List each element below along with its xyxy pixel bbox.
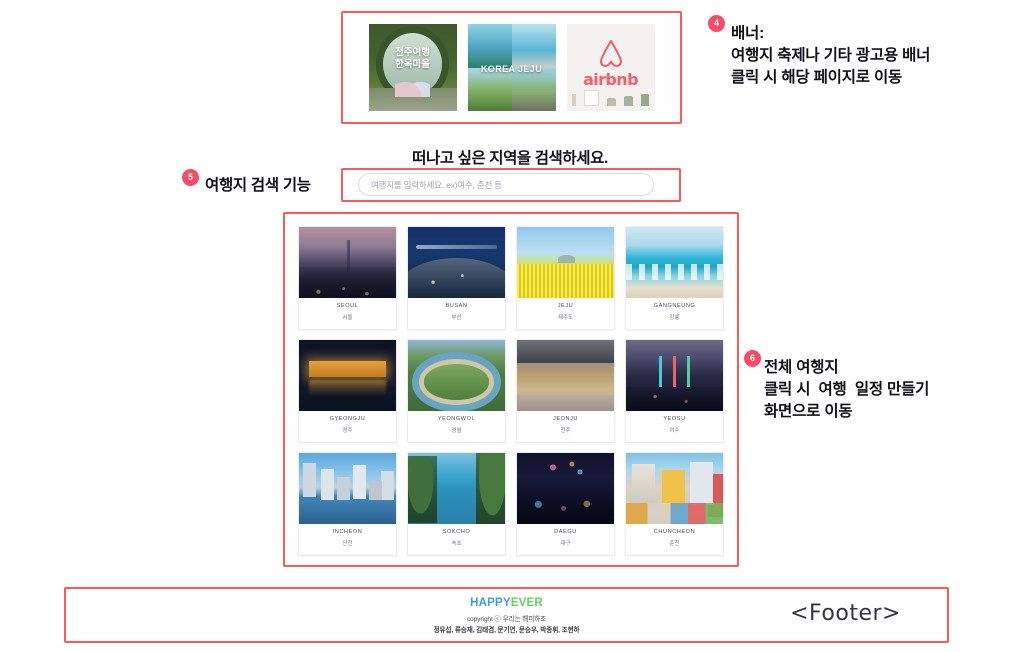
- hanbok-figures-graphic: [395, 74, 430, 97]
- search-heading: 떠나고 싶은 지역을 검색하세요.: [340, 146, 680, 168]
- destination-name-kr: 인천: [299, 539, 396, 547]
- jeju-photo-tile-3: [468, 68, 512, 112]
- destination-name-en: JEJU: [517, 303, 614, 309]
- jeju-photo-tile-2: [512, 24, 556, 68]
- diffuser-icon: [572, 94, 576, 106]
- destination-name-kr: 여수: [626, 426, 723, 434]
- destination-name-kr: 전주: [517, 426, 614, 434]
- picture-frame-icon: [584, 90, 599, 106]
- banner-carousel[interactable]: 전주여행 한옥마을 KOREA JEJU airbnb: [341, 11, 682, 124]
- destination-grid: SEOUL 서울 BUSAN 부산 JEJU 제주도 GANGNEUNG 강릉 …: [283, 212, 739, 567]
- incheon-photo: [299, 453, 396, 524]
- daegu-photo: [517, 453, 614, 524]
- destination-name-kr: 경주: [299, 426, 396, 434]
- destination-card-yeosu[interactable]: YEOSU 여수: [625, 339, 724, 443]
- chuncheon-photo: [626, 453, 723, 524]
- destination-card-seoul[interactable]: SEOUL 서울: [298, 226, 397, 330]
- destination-name-kr: 강릉: [626, 313, 723, 321]
- plant-icon-2: [624, 96, 633, 106]
- destination-name-en: SOKCHO: [408, 529, 505, 535]
- destination-name-en: YEOSU: [626, 416, 723, 422]
- jeju-photo-tile-4: [512, 68, 556, 112]
- banner-jeonju-title: 전주여행 한옥마을: [369, 47, 457, 71]
- sokcho-photo: [408, 453, 505, 524]
- airbnb-logo: airbnb: [567, 38, 655, 89]
- destination-name-en: CHUNCHEON: [626, 529, 723, 535]
- destination-card-chuncheon[interactable]: CHUNCHEON 춘천: [625, 452, 724, 556]
- destination-name-en: JEONJU: [517, 416, 614, 422]
- banner-card-airbnb[interactable]: airbnb: [567, 24, 655, 111]
- destination-card-jeju[interactable]: JEJU 제주도: [516, 226, 615, 330]
- yeosu-photo: [626, 340, 723, 411]
- annotation-badge-5: 5: [182, 169, 199, 186]
- brand-name-primary: HAPPY: [470, 597, 511, 609]
- destination-name-kr: 영월: [408, 426, 505, 434]
- destination-name-en: SEOUL: [299, 303, 396, 309]
- destination-name-en: INCHEON: [299, 529, 396, 535]
- gangneung-photo: [626, 227, 723, 298]
- jeju-photo-tile-1: [468, 24, 512, 68]
- destination-name-kr: 춘천: [626, 539, 723, 547]
- airbnb-shelf-graphic: [572, 88, 649, 105]
- destination-name-en: GYEONGJU: [299, 416, 396, 422]
- destination-name-en: YEONGWOL: [408, 416, 505, 422]
- destination-name-en: BUSAN: [408, 303, 505, 309]
- banner-card-jeonju[interactable]: 전주여행 한옥마을: [369, 24, 457, 111]
- seoul-photo: [299, 227, 396, 298]
- jeju-photo: [517, 227, 614, 298]
- banner-card-jeju[interactable]: KOREA JEJU: [468, 24, 556, 111]
- destination-name-kr: 속초: [408, 539, 505, 547]
- destination-name-en: DAEGU: [517, 529, 614, 535]
- destination-card-gyeongju[interactable]: GYEONGJU 경주: [298, 339, 397, 443]
- annotation-badge-6: 6: [744, 350, 761, 367]
- yeongwol-photo: [408, 340, 505, 411]
- destination-card-busan[interactable]: BUSAN 부산: [407, 226, 506, 330]
- destination-card-sokcho[interactable]: SOKCHO 속초: [407, 452, 506, 556]
- search-input[interactable]: [358, 173, 654, 196]
- plant-icon-1: [607, 98, 616, 106]
- brand-name-secondary: EVER: [511, 597, 543, 609]
- airbnb-wordmark: airbnb: [567, 70, 655, 89]
- destination-card-yeongwol[interactable]: YEONGWOL 영월: [407, 339, 506, 443]
- destination-card-gangneung[interactable]: GANGNEUNG 강릉: [625, 226, 724, 330]
- destination-card-incheon[interactable]: INCHEON 인천: [298, 452, 397, 556]
- annotation-badge-4: 4: [708, 15, 725, 32]
- destination-name-kr: 대구: [517, 539, 614, 547]
- destination-name-kr: 제주도: [517, 313, 614, 321]
- footer-section-label: <Footer>: [790, 601, 901, 626]
- gyeongju-photo: [299, 340, 396, 411]
- airbnb-belo-icon: [594, 38, 628, 68]
- destination-name-en: GANGNEUNG: [626, 303, 723, 309]
- banner-jeju-title: KOREA JEJU: [468, 64, 556, 74]
- annotation-text-6: 전체 여행지 클릭 시 여행 일정 만들기 화면으로 이동: [764, 357, 929, 423]
- annotation-text-5: 여행지 검색 기능: [205, 173, 311, 195]
- annotation-text-4: 배너: 여행지 축제나 기타 광고용 배너 클릭 시 해당 페이지로 이동: [731, 23, 930, 89]
- footer: HAPPYEVER copyright ⓒ 우리는 해피하조 정유섭, 류승재,…: [64, 587, 949, 643]
- destination-name-kr: 서울: [299, 313, 396, 321]
- destination-name-kr: 부산: [408, 313, 505, 321]
- destination-card-daegu[interactable]: DAEGU 대구: [516, 452, 615, 556]
- plant-icon-3: [641, 94, 649, 105]
- jeonju-photo: [517, 340, 614, 411]
- destination-card-jeonju[interactable]: JEONJU 전주: [516, 339, 615, 443]
- busan-photo: [408, 227, 505, 298]
